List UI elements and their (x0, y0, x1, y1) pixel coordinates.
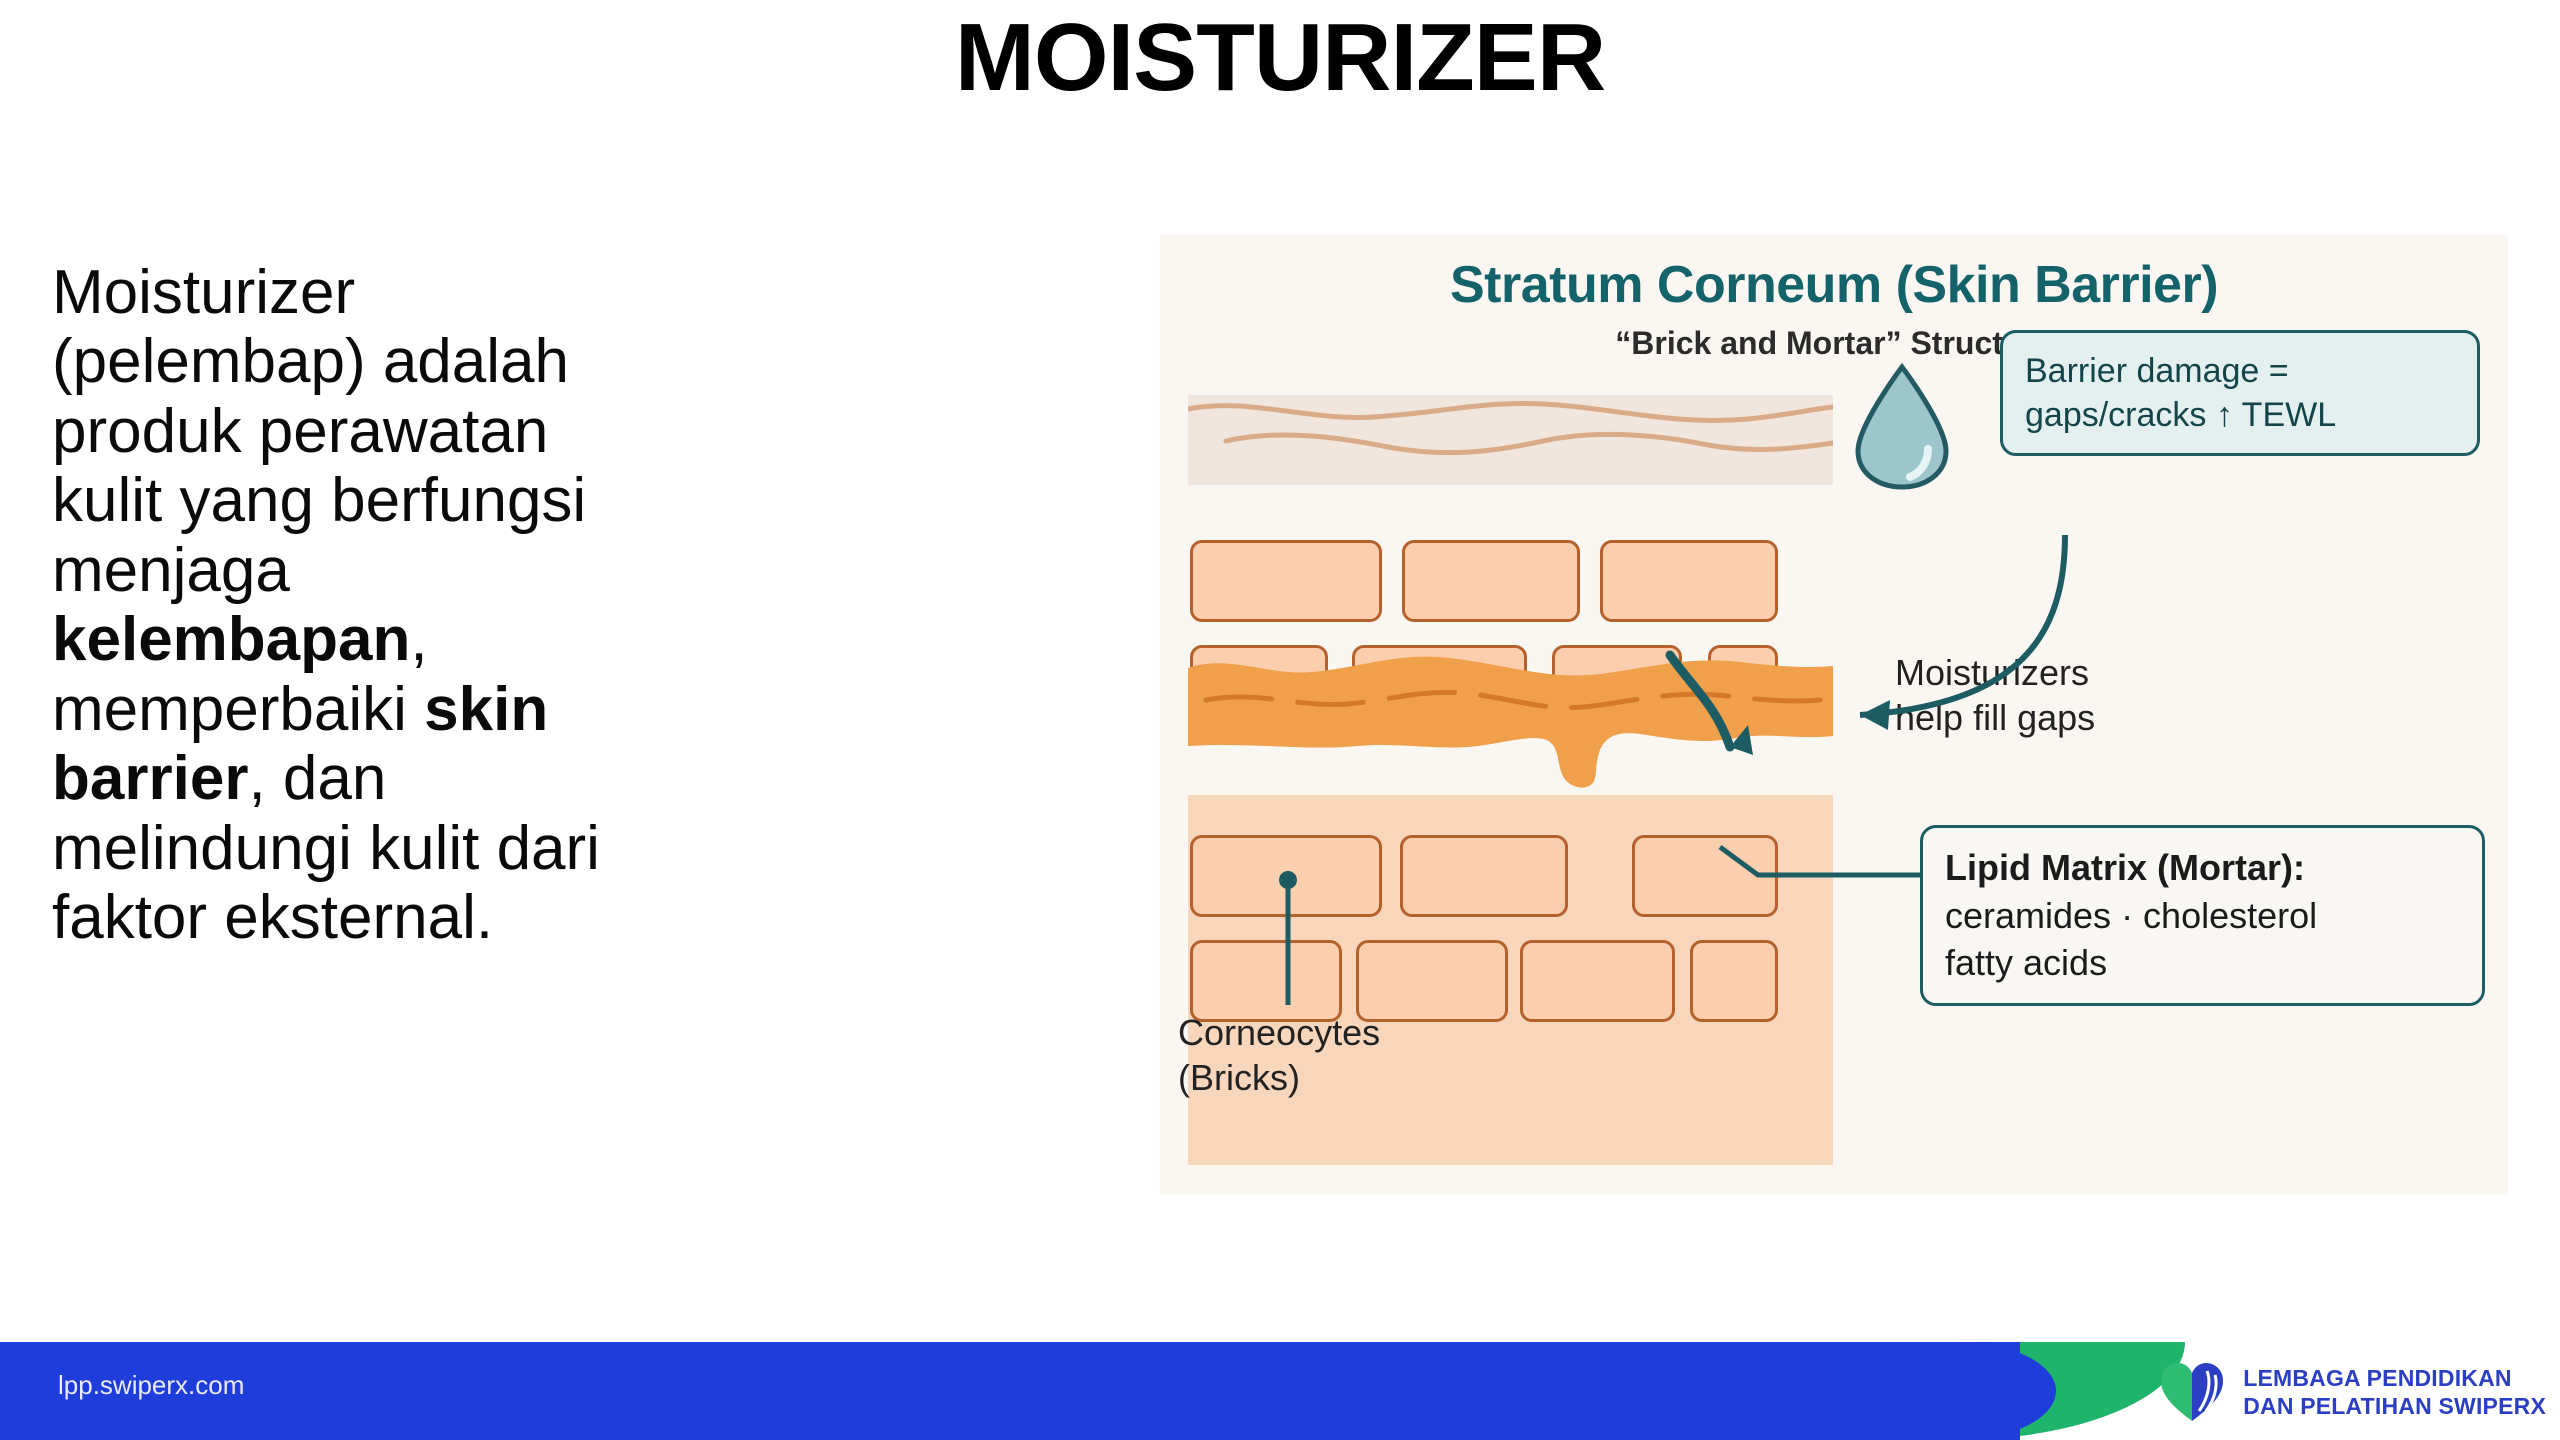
footer-blue-band (0, 1342, 2020, 1440)
arrow-head-icon (1860, 700, 1890, 730)
corneocyte-brick (1632, 835, 1778, 917)
brand-logo-line-1: LEMBAGA PENDIDIKAN (2243, 1364, 2546, 1392)
corneocyte-brick (1190, 835, 1382, 917)
lipid-mortar-band (1188, 650, 1833, 800)
diagram-title: Stratum Corneum (Skin Barrier) (1160, 255, 2508, 315)
skin-surface-wave-icon (1188, 395, 1833, 485)
label-corneocytes-line-1: Corneocytes (1178, 1010, 1508, 1055)
corneocyte-brick (1190, 540, 1382, 622)
body-segment-1: Moisturizer (pelembap) adalah produk per… (52, 258, 586, 605)
corneocyte-brick (1520, 940, 1675, 1022)
footer-url[interactable]: lpp.swiperx.com (58, 1370, 244, 1401)
corneocyte-brick (1600, 540, 1778, 622)
brand-logo-line-2: DAN PELATIHAN SWIPERX (2243, 1392, 2546, 1420)
callout-lipid-line-3: fatty acids (1945, 939, 2460, 987)
callout-barrier-line-1: Barrier damage = (2025, 349, 2455, 393)
corneocyte-brick (1402, 540, 1580, 622)
callout-barrier-damage: Barrier damage = gaps/cracks ↑ TEWL (2000, 330, 2480, 456)
page-title: MOISTURIZER (630, 8, 1930, 109)
swiperx-heart-logo-icon (2159, 1361, 2229, 1423)
body-paragraph: Moisturizer (pelembap) adalah produk per… (52, 258, 672, 952)
water-droplet-icon (1850, 363, 1954, 491)
label-moisturizers-help-fill-gaps: Moisturizers help fill gaps (1895, 650, 2215, 740)
callout-lipid-matrix: Lipid Matrix (Mortar): ceramides · chole… (1920, 825, 2485, 1006)
callout-lipid-header: Lipid Matrix (Mortar): (1945, 844, 2460, 892)
footer-blue-rounded-end (1860, 1342, 2056, 1440)
label-moisturizers-line-1: Moisturizers (1895, 650, 2215, 695)
callout-lipid-line-2: ceramides · cholesterol (1945, 892, 2460, 940)
label-moisturizers-line-2: help fill gaps (1895, 695, 2215, 740)
brand-logo-text: LEMBAGA PENDIDIKAN DAN PELATIHAN SWIPERX (2243, 1364, 2546, 1420)
label-corneocytes-line-2: (Bricks) (1178, 1055, 1508, 1100)
body-segment-bold-kelembapan: kelembapan (52, 605, 410, 674)
skin-surface-layer (1188, 395, 1833, 485)
corneocyte-brick (1400, 835, 1568, 917)
label-corneocytes-bricks: Corneocytes (Bricks) (1178, 1010, 1508, 1100)
callout-barrier-line-2: gaps/cracks ↑ TEWL (2025, 393, 2455, 437)
footer-bar: lpp.swiperx.com LEMBAGA PENDIDIKAN DAN P… (0, 1342, 2560, 1440)
mortar-wave-icon (1188, 650, 1833, 800)
corneocyte-brick (1690, 940, 1778, 1022)
brand-logo: LEMBAGA PENDIDIKAN DAN PELATIHAN SWIPERX (2159, 1356, 2546, 1428)
skin-barrier-diagram: Stratum Corneum (Skin Barrier) “Brick an… (1160, 235, 2508, 1195)
